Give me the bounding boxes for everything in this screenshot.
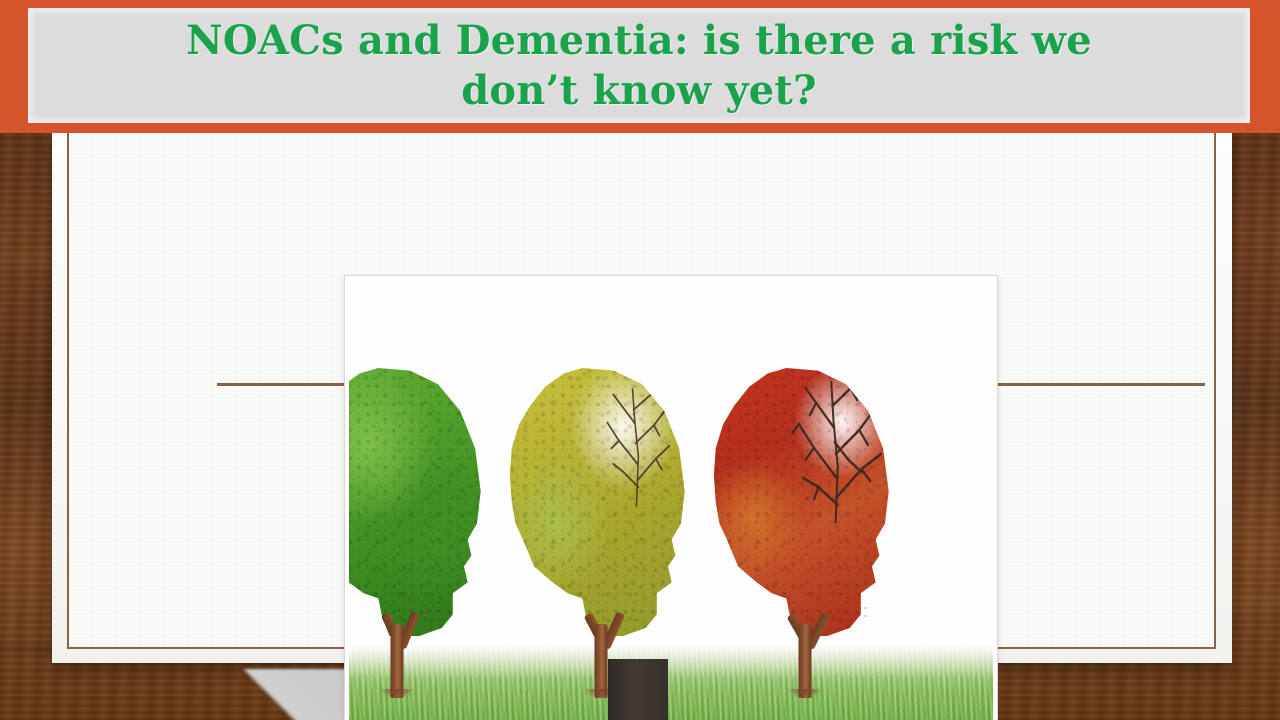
yellow-canopy bbox=[508, 368, 694, 636]
ground-haze bbox=[349, 644, 993, 678]
title-banner: NOACs and Dementia: is there a risk we d… bbox=[0, 0, 1280, 133]
leaf-edge-speckle bbox=[504, 364, 698, 640]
image-ground bbox=[349, 644, 993, 720]
slide-image[interactable] bbox=[344, 275, 998, 720]
tree-trunk bbox=[799, 624, 812, 698]
tree-trunk bbox=[391, 624, 404, 698]
fallen-leaves bbox=[805, 604, 875, 620]
page-title: NOACs and Dementia: is there a risk we d… bbox=[146, 16, 1132, 116]
leaf-edge-speckle bbox=[708, 364, 902, 640]
head-silhouette bbox=[349, 368, 490, 636]
decorative-rule-right bbox=[977, 383, 1205, 386]
easel-stand bbox=[608, 659, 668, 720]
tree-trunk bbox=[595, 624, 608, 698]
slide-board bbox=[52, 131, 1232, 663]
title-banner-inner: NOACs and Dementia: is there a risk we d… bbox=[28, 8, 1250, 123]
leaf-edge-speckle bbox=[349, 364, 494, 640]
red-canopy bbox=[712, 368, 898, 636]
image-canvas bbox=[349, 280, 993, 720]
head-silhouette bbox=[508, 368, 694, 636]
green-canopy bbox=[349, 368, 490, 636]
presentation-screenshot: NOACs and Dementia: is there a risk we d… bbox=[0, 0, 1280, 720]
grass-blades bbox=[349, 676, 993, 720]
head-silhouette bbox=[712, 368, 898, 636]
